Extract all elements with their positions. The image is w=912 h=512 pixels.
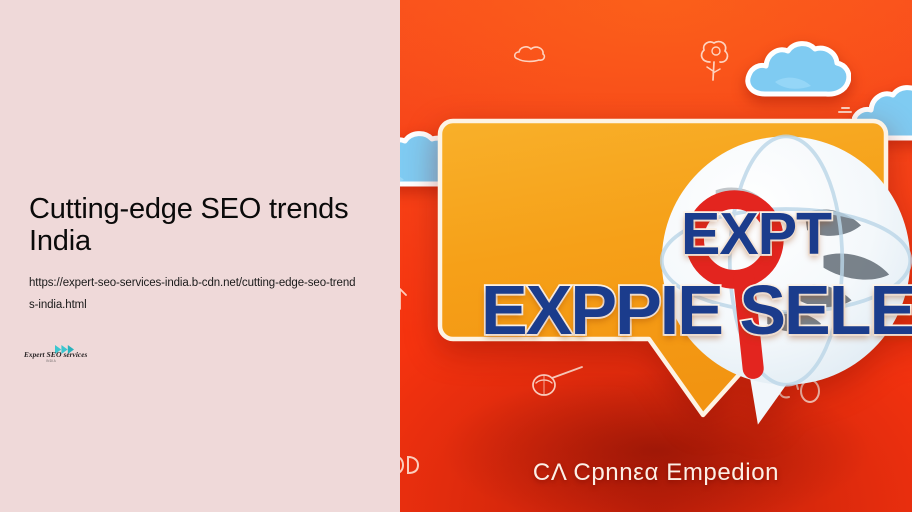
page-title: Cutting-edge SEO trends India <box>29 193 401 258</box>
image-caption: CΛ Cpnnεα Empedion <box>400 459 912 487</box>
logo-tagline: INDIA <box>46 359 56 363</box>
globe-search-badge <box>560 134 668 262</box>
logo-word-services: services <box>62 351 88 359</box>
logo-wordmark: Expert SEO services <box>24 350 96 359</box>
speech-bubble: EXPT EXPPIE SELEANT <box>437 118 889 418</box>
logo-word-expert: Expert <box>24 351 46 359</box>
page-url[interactable]: https://expert-seo-services-india.b-cdn.… <box>29 272 359 317</box>
screenshot-root: Cutting-edge SEO trends India https://ex… <box>0 0 912 512</box>
article-info-panel: Cutting-edge SEO trends India https://ex… <box>0 0 400 512</box>
doodle-tree <box>696 38 732 82</box>
hero-image: EXPT EXPPIE SELEANT CΛ Cpnnεα Empedion <box>400 0 912 512</box>
doodle-arrow <box>400 283 416 311</box>
double-chevron-icon <box>55 341 74 350</box>
site-logo: Expert SEO services INDIA <box>24 341 96 363</box>
cloud-icon-top <box>745 36 851 104</box>
doodle-dash-mark <box>837 105 855 115</box>
doodle-cloud-outline <box>513 44 547 64</box>
